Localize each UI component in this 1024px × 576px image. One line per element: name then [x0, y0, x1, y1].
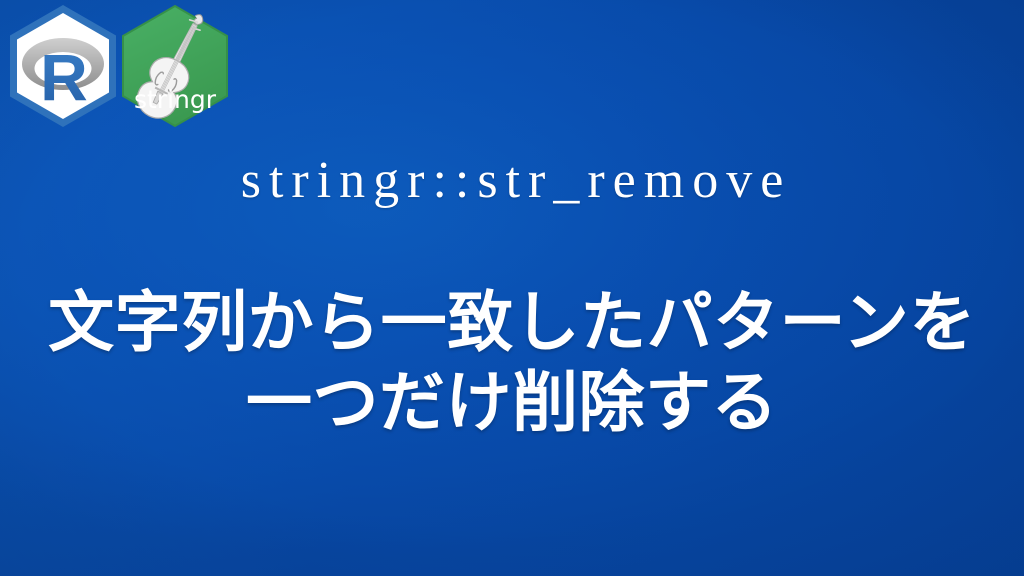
stringr-logo-icon: stringr: [116, 2, 234, 130]
slide-title: stringr::str_remove: [0, 150, 1024, 212]
slide-subtitle-line-2: 一つだけ削除する: [0, 363, 1024, 443]
slide-root: R: [0, 0, 1024, 576]
slide-subtitle-line-1: 文字列から一致したパターンを: [0, 283, 1024, 363]
r-letter-glyph: R: [40, 40, 88, 114]
r-logo-icon: R: [4, 2, 122, 130]
stringr-logo-label: stringr: [134, 85, 217, 114]
slide-subtitle: 文字列から一致したパターンを 一つだけ削除する: [0, 283, 1024, 443]
logo-row: R: [4, 2, 234, 130]
